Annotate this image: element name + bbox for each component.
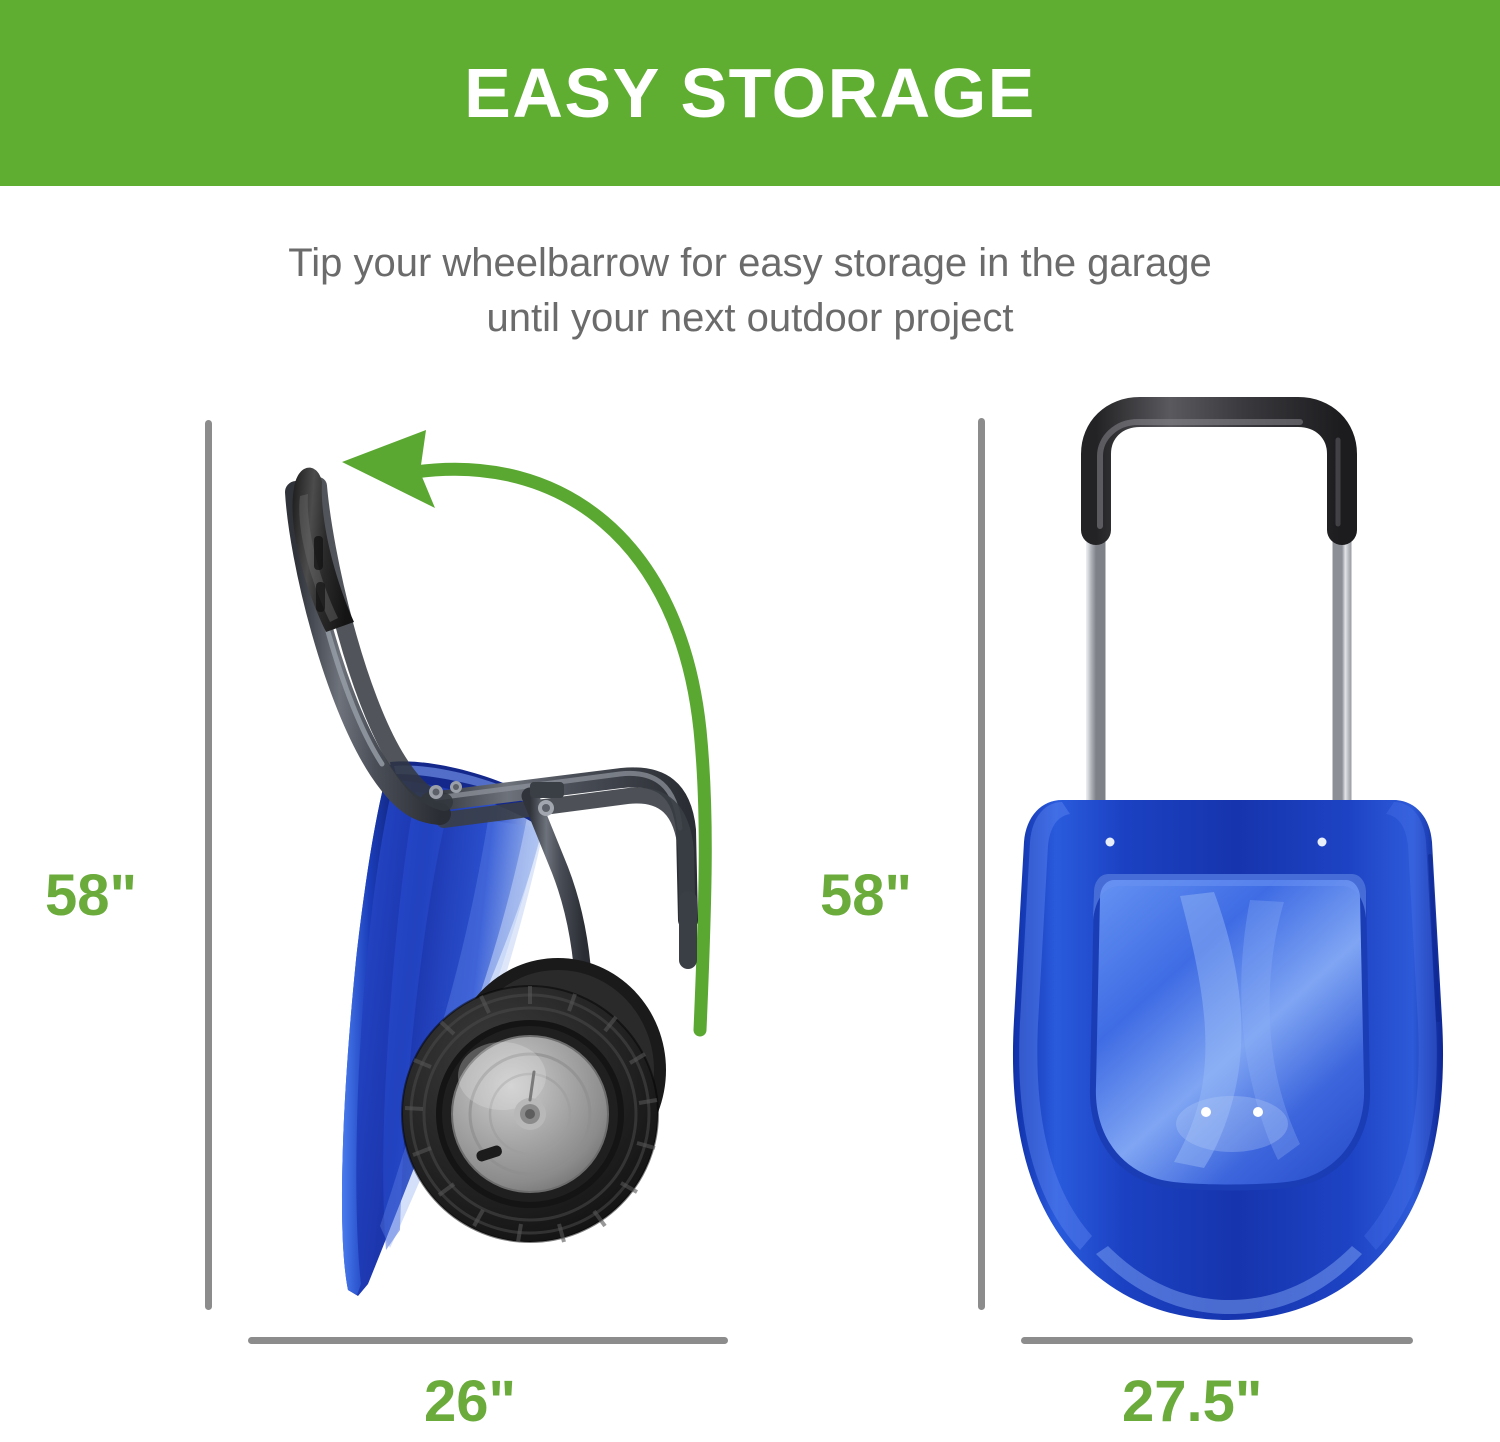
tray-basin: [1090, 874, 1370, 1191]
height-rule-left: [205, 420, 212, 1310]
height-label-right: 58": [820, 862, 912, 929]
page-title: EASY STORAGE: [464, 58, 1036, 128]
subtitle-text: Tip your wheelbarrow for easy storage in…: [250, 236, 1250, 346]
width-label-left: 26": [424, 1368, 516, 1435]
product-image-tipped: [230, 400, 750, 1330]
header-banner: EASY STORAGE: [0, 0, 1500, 186]
wheelbarrow-tray: [1013, 800, 1443, 1320]
height-rule-right: [978, 418, 985, 1310]
infographic-page: EASY STORAGE Tip your wheelbarrow for ea…: [0, 0, 1500, 1442]
product-image-front: [1000, 400, 1460, 1330]
width-rule-left: [248, 1337, 728, 1344]
handle-grip-bar: [1096, 412, 1342, 530]
height-label-left: 58": [45, 862, 137, 929]
handle-posts: [1084, 520, 1354, 838]
width-rule-right: [1021, 1337, 1413, 1344]
wheel: [402, 986, 658, 1242]
width-label-right: 27.5": [1122, 1368, 1262, 1435]
